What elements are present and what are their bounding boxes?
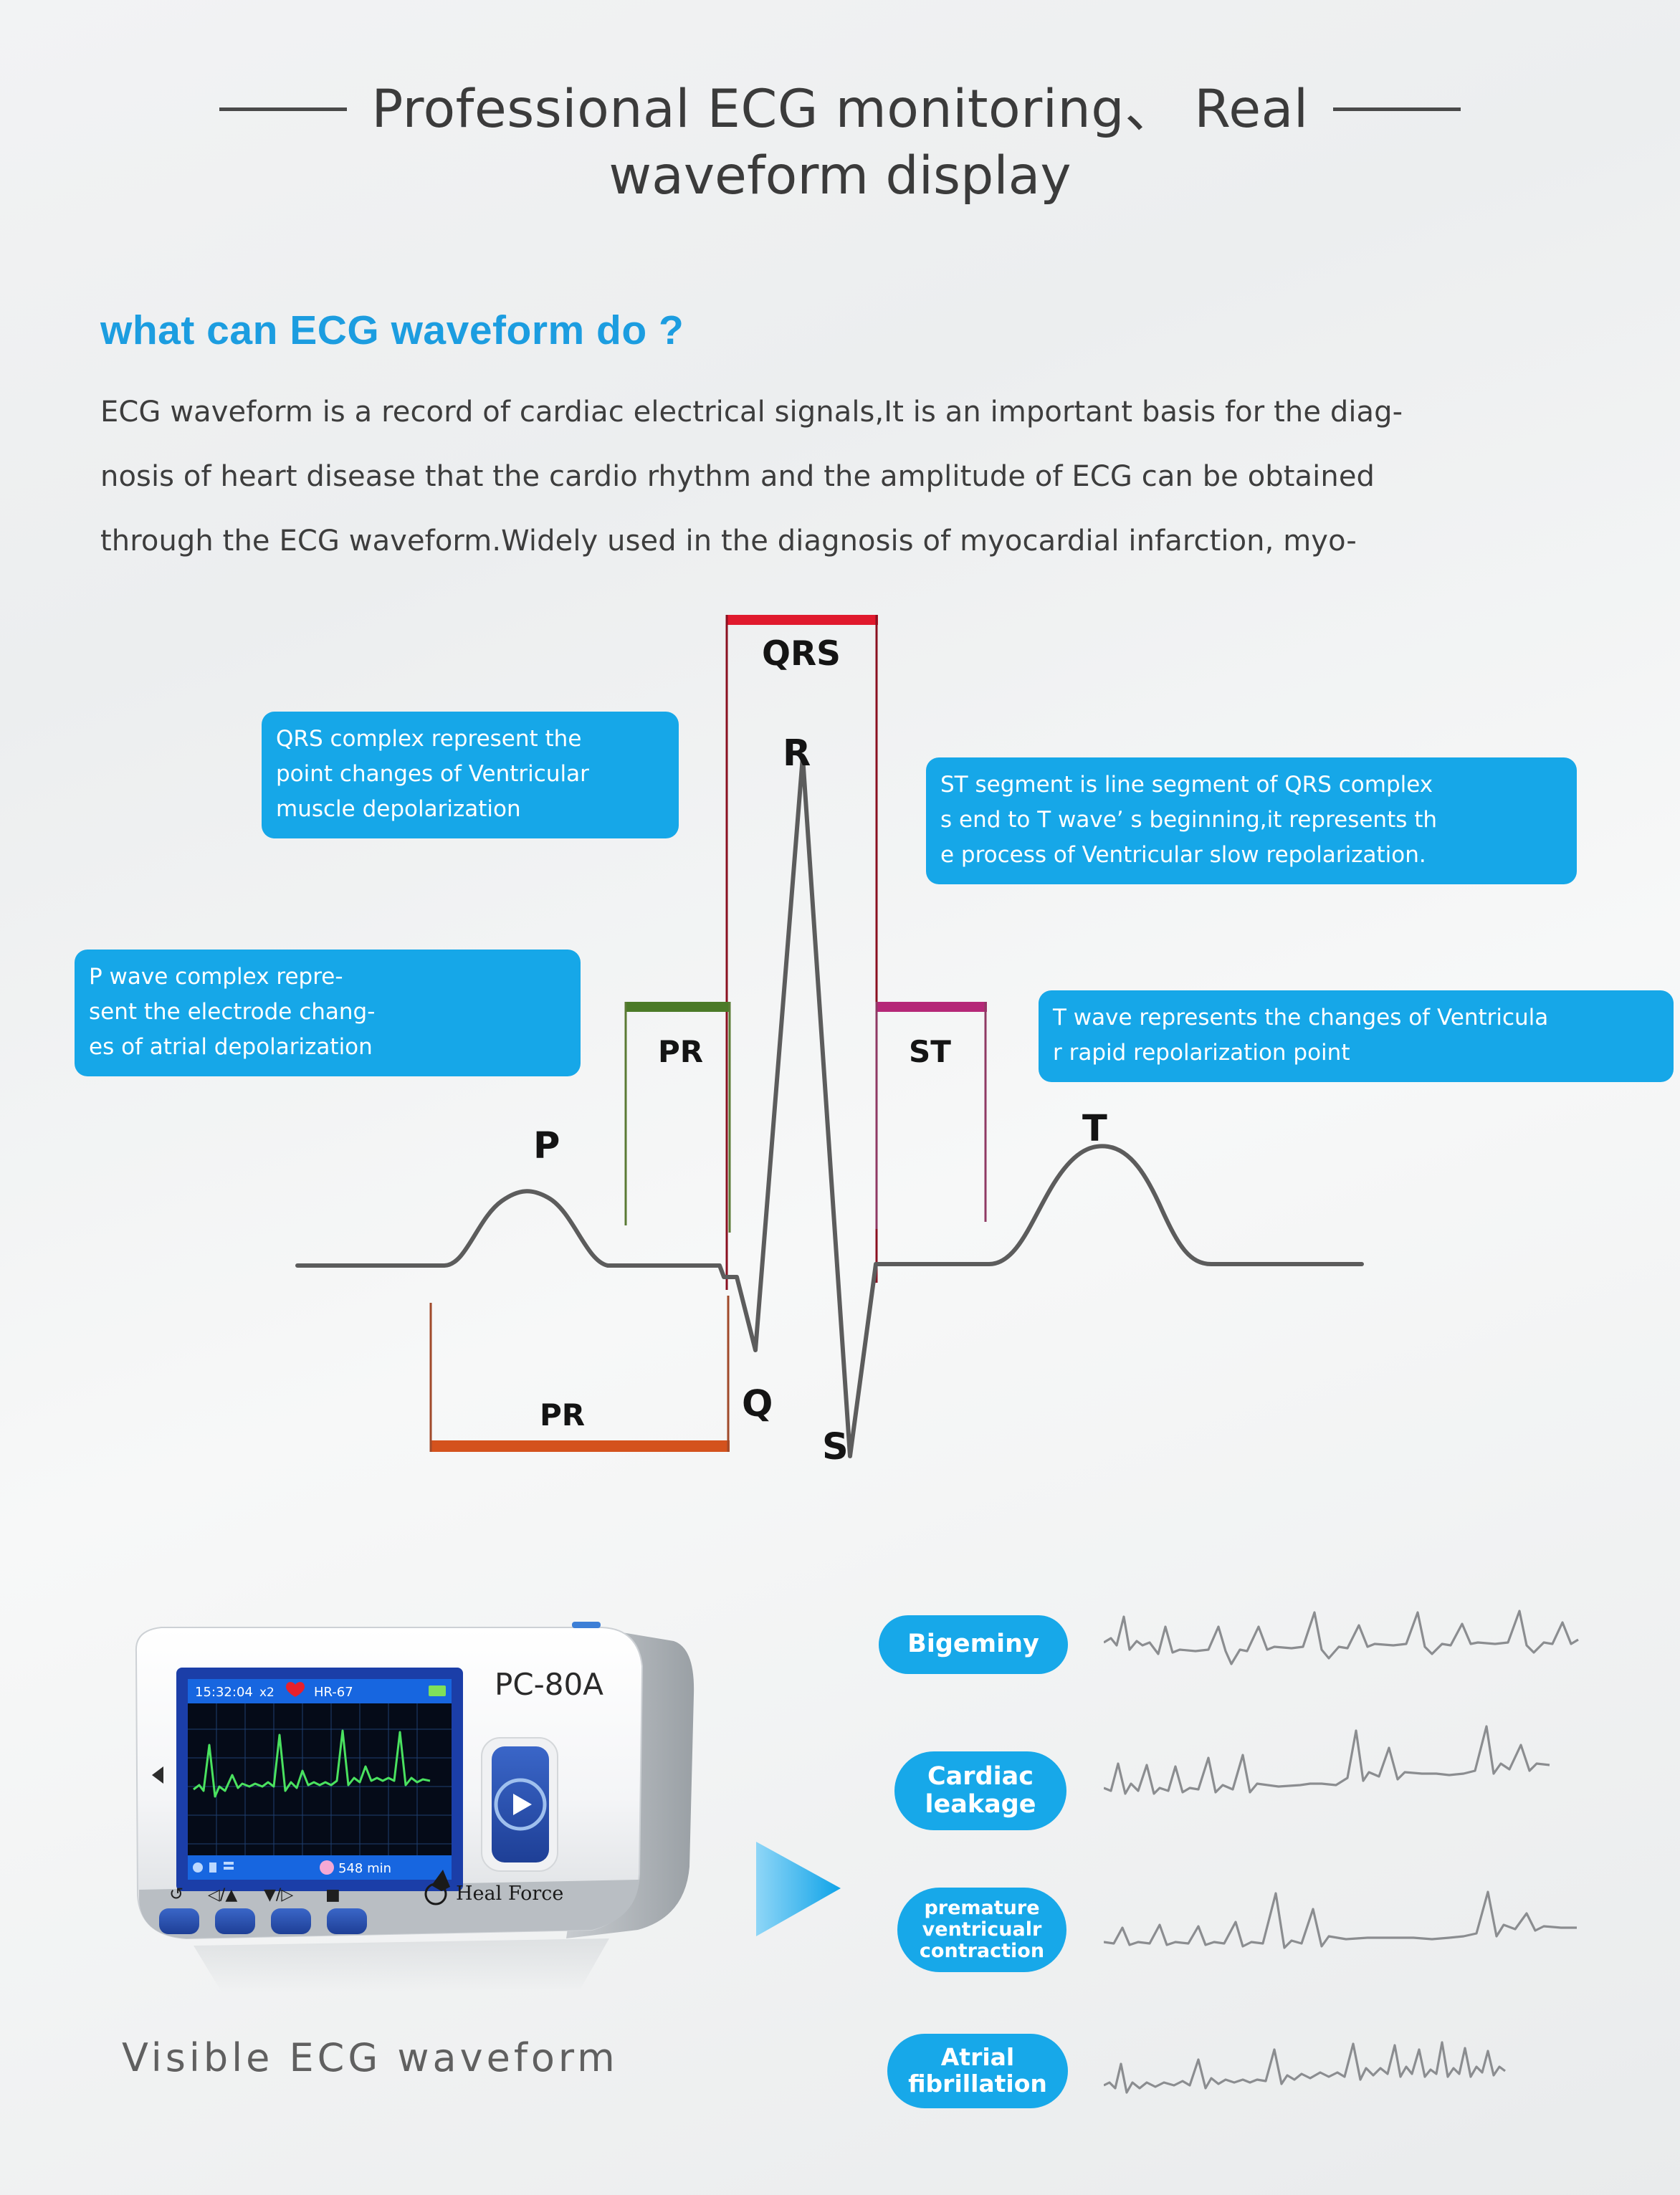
- callout-line: T wave represents the changes of Ventric…: [1053, 1000, 1659, 1036]
- callout-line: QRS complex represent the: [276, 722, 664, 757]
- callout-line: ST segment is line segment of QRS comple…: [940, 767, 1562, 803]
- device-photo: 15:32:04 x2 HR-67 548 min PC-80A: [108, 1609, 738, 1981]
- condition-label-line: Cardiac: [927, 1763, 1034, 1791]
- device-key-3: [327, 1908, 367, 1934]
- condition-pill-bigeminy[interactable]: Bigeminy: [879, 1615, 1068, 1674]
- label-p-wave: P: [533, 1125, 560, 1167]
- flow-arrow-icon: [756, 1832, 856, 1950]
- callout-line: P wave complex repre-: [89, 960, 566, 995]
- device-key-glyph-3: ■: [325, 1886, 340, 1904]
- device-key-0: [159, 1908, 199, 1934]
- label-qrs: QRS: [762, 634, 841, 674]
- ecg-strip-premature-ventricular-contraction: [1104, 1863, 1591, 1989]
- device-brand-label: Heal Force: [456, 1883, 563, 1905]
- ecg-strip-bigeminy: [1104, 1598, 1591, 1688]
- callout-p-wave: P wave complex repre- sent the electrode…: [75, 950, 581, 1076]
- screen-status-gain: x2: [259, 1685, 275, 1700]
- screen-status-time: 15:32:04: [195, 1685, 253, 1700]
- device-model-label: PC-80A: [495, 1667, 603, 1702]
- label-q-wave: Q: [742, 1383, 773, 1425]
- battery-icon: [429, 1685, 446, 1696]
- label-t-wave: T: [1082, 1108, 1107, 1150]
- bracket-qrs: [726, 615, 878, 1290]
- condition-label-line: premature: [924, 1898, 1039, 1919]
- condition-pill-cardiac-leakage[interactable]: Cardiac leakage: [894, 1751, 1066, 1830]
- device-caption: Visible ECG waveform: [122, 2035, 619, 2080]
- device-key-1: [215, 1908, 255, 1934]
- callout-st: ST segment is line segment of QRS comple…: [926, 757, 1577, 884]
- callout-line: muscle depolarization: [276, 792, 664, 827]
- condition-label-line: leakage: [925, 1791, 1036, 1819]
- device-key-glyph-2: ▼/▷: [264, 1886, 293, 1904]
- screen-footer-icon: [320, 1860, 334, 1875]
- device-key-2: [271, 1908, 311, 1934]
- callout-qrs: QRS complex represent the point changes …: [262, 712, 679, 838]
- condition-label-line: ventricualr: [922, 1919, 1042, 1941]
- callout-t-wave: T wave represents the changes of Ventric…: [1039, 990, 1674, 1082]
- callout-line: e process of Ventricular slow repolariza…: [940, 838, 1562, 873]
- callout-line: es of atrial depolarization: [89, 1030, 566, 1065]
- callout-line: s end to T wave’ s beginning,it represen…: [940, 803, 1562, 838]
- label-pr-interval-top: PR: [658, 1034, 703, 1069]
- condition-label-line: fibrillation: [908, 2071, 1047, 2098]
- device-top-indicator: [572, 1622, 601, 1628]
- device-key-glyph-1: ◁/▲: [208, 1886, 237, 1904]
- label-pr-interval-bottom: PR: [540, 1397, 585, 1433]
- condition-pill-pvc[interactable]: premature ventricualr contraction: [897, 1888, 1066, 1972]
- condition-label-line: contraction: [920, 1941, 1044, 1962]
- condition-pill-atrial-fibrillation[interactable]: Atrial fibrillation: [887, 2034, 1068, 2108]
- screen-status-hr: HR-67: [314, 1685, 353, 1700]
- callout-line: r rapid repolarization point: [1053, 1036, 1659, 1071]
- callout-line: point changes of Ventricular: [276, 757, 664, 792]
- label-st-segment: ST: [909, 1034, 951, 1069]
- device-key-glyph-0: ↺: [169, 1884, 183, 1904]
- device-reflection: [194, 1938, 609, 1993]
- screen-footer-value: 548 min: [338, 1861, 391, 1876]
- condition-label-line: Bigeminy: [907, 1630, 1039, 1658]
- condition-label-line: Atrial: [941, 2045, 1014, 2071]
- label-s-wave: S: [822, 1426, 849, 1468]
- ecg-strip-atrial-fibrillation: [1104, 2007, 1591, 2132]
- label-r-wave: R: [783, 732, 811, 775]
- ecg-strip-cardiac-leakage: [1104, 1720, 1591, 1845]
- callout-line: sent the electrode chang-: [89, 995, 566, 1030]
